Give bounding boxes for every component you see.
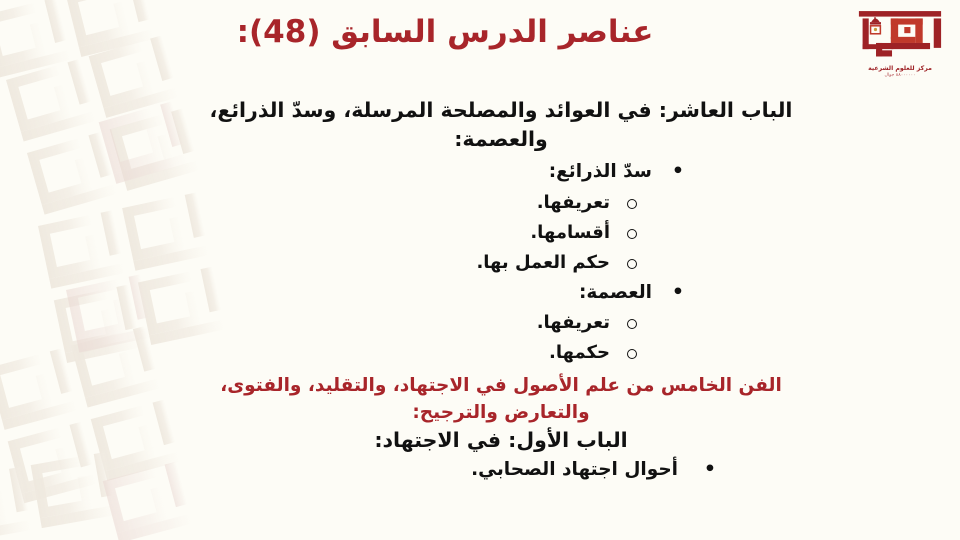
list-item: حكمها. [120, 338, 650, 368]
list-item: تعريفها. [120, 308, 650, 338]
list-item: تعريفها. [120, 188, 650, 218]
section-one-list: سدّ الذرائع: تعريفها. أقسامها. حكم العمل… [120, 157, 882, 368]
section-two-list: أحوال اجتهاد الصحابي. [120, 455, 882, 486]
list-item-group-label: العصمة: [120, 278, 694, 309]
brand-logo: مركز للعلوم الشرعية ٨٨٠٠٠٠٠٠ جوال [848, 6, 952, 92]
mosque-dome-icon [870, 17, 881, 34]
list-item-group-label: سدّ الذرائع: [120, 157, 694, 188]
slide-canvas: مركز للعلوم الشرعية ٨٨٠٠٠٠٠٠ جوال عناصر … [0, 0, 960, 540]
section-two-heading-line-2: والتعارض والترجيح: [120, 400, 882, 427]
list-item: أقسامها. [120, 218, 650, 248]
section-one-heading-line-2: والعصمة: [120, 125, 882, 154]
section-one-group-0-sublist: تعريفها. أقسامها. حكم العمل بها. [120, 188, 882, 278]
section-two-heading-line-1: الفن الخامس من علم الأصول في الاجتهاد، و… [120, 373, 882, 400]
list-item: أحوال اجتهاد الصحابي. [120, 455, 732, 486]
list-item: حكم العمل بها. [120, 248, 650, 278]
page-title: عناصر الدرس السابق (48): [0, 14, 960, 51]
section-one-group-1-sublist: تعريفها. حكمها. [120, 308, 882, 368]
ihkam-logo-mark [854, 6, 946, 64]
logo-phone: ٨٨٠٠٠٠٠٠ جوال [848, 73, 952, 79]
slide-content: الباب العاشر: في العوائد والمصلحة المرسل… [120, 96, 882, 486]
section-one-heading-line-1: الباب العاشر: في العوائد والمصلحة المرسل… [120, 96, 882, 125]
logo-subtitle: مركز للعلوم الشرعية [848, 65, 952, 73]
section-two-sub-heading: الباب الأول: في الاجتهاد: [120, 426, 882, 455]
